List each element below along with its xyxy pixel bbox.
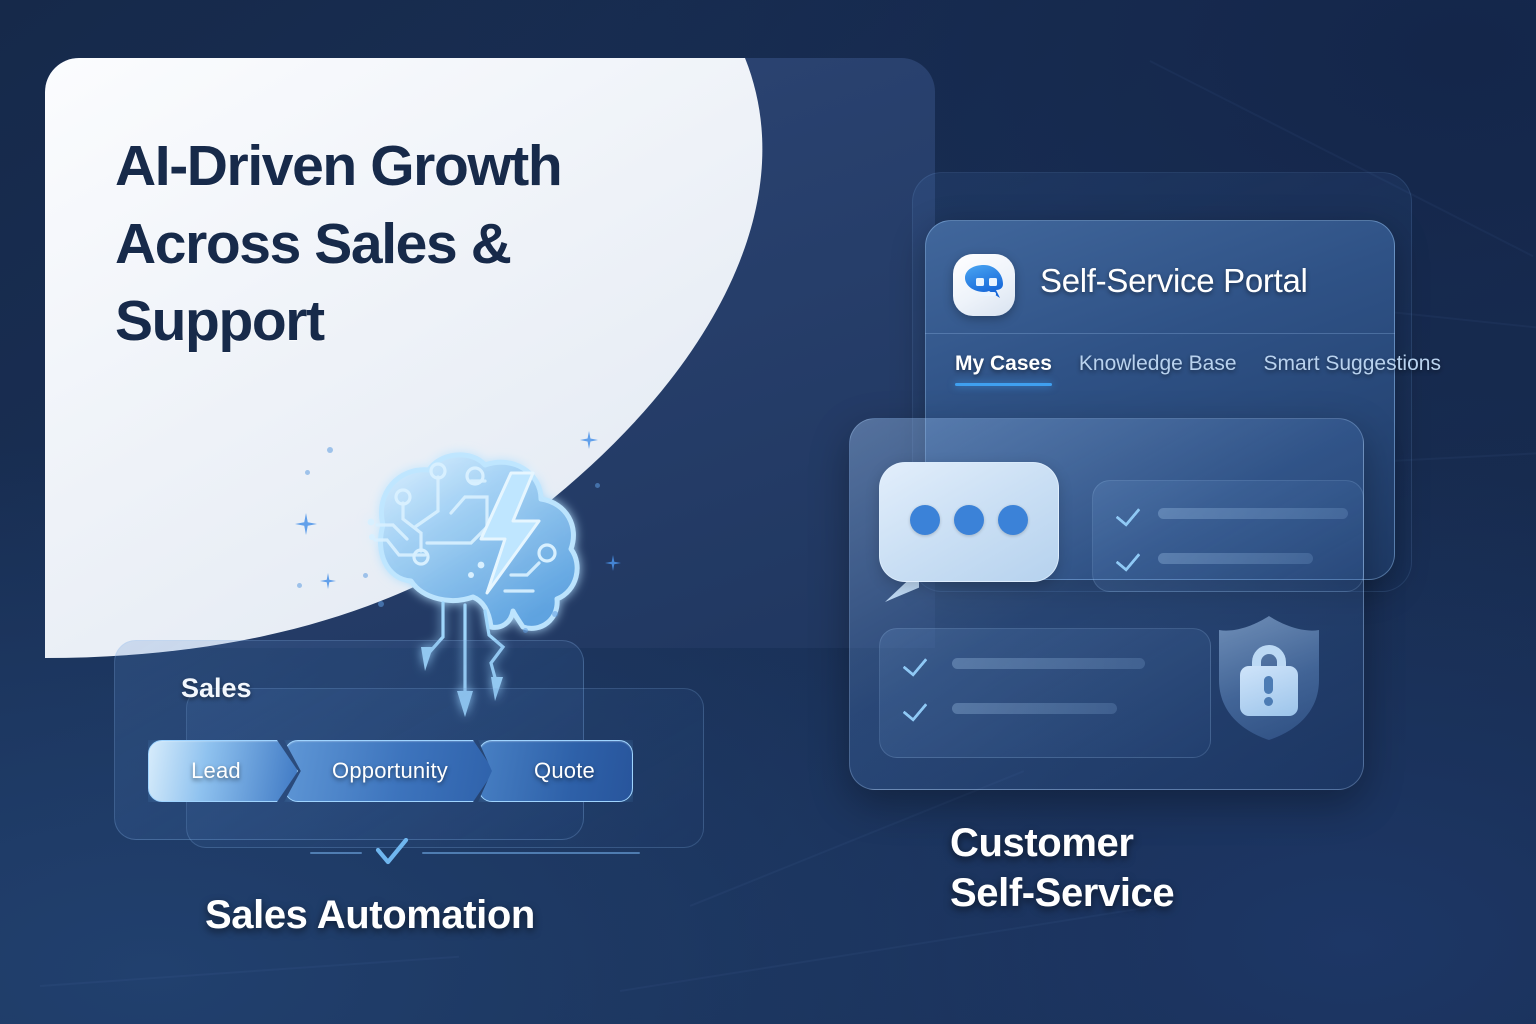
- pipeline-stage-lead[interactable]: Lead: [148, 740, 298, 802]
- self-service-caption-line-2: Self-Service: [950, 868, 1174, 918]
- pipeline-stage-opportunity[interactable]: Opportunity: [284, 740, 494, 802]
- check-icon: [1119, 545, 1145, 571]
- check-icon: [906, 650, 932, 676]
- particle-dot: [363, 573, 368, 578]
- checklist-card: [879, 628, 1211, 758]
- sales-pipeline: Lead Opportunity Quote: [148, 740, 633, 802]
- particle-dot: [595, 483, 600, 488]
- particle-dot: [297, 583, 302, 588]
- divider-line: [310, 852, 362, 854]
- bg-streak: [40, 956, 459, 987]
- typing-dot: [954, 505, 984, 535]
- particle-dot: [305, 470, 310, 475]
- typing-dot: [998, 505, 1028, 535]
- portal-tab-divider: [925, 333, 1395, 334]
- portal-tabs: My Cases Knowledge Base Smart Suggestion…: [955, 352, 1468, 386]
- check-icon: [1119, 500, 1145, 526]
- page-title-line-2: Across Sales &: [115, 206, 795, 284]
- particle-dot: [552, 611, 558, 617]
- tab-knowledge-base[interactable]: Knowledge Base: [1079, 352, 1237, 386]
- check-icon: [372, 838, 412, 870]
- placeholder-bar: [952, 703, 1117, 714]
- self-service-caption: Customer Self-Service: [950, 818, 1174, 918]
- tab-smart-suggestions[interactable]: Smart Suggestions: [1264, 352, 1441, 386]
- pipeline-complete-row: [310, 838, 640, 868]
- checklist-card: [1092, 480, 1364, 592]
- divider-line: [422, 852, 640, 854]
- pipeline-stage-quote[interactable]: Quote: [478, 740, 633, 802]
- chat-bot-avatar-icon: [953, 254, 1015, 316]
- sales-panel-label: Sales: [181, 673, 252, 704]
- page-title: AI-Driven Growth Across Sales & Support: [115, 128, 795, 361]
- poster-canvas: AI-Driven Growth Across Sales & Support: [0, 0, 1536, 1024]
- placeholder-bar: [1158, 553, 1313, 564]
- page-title-line-3: Support: [115, 283, 795, 361]
- typing-dot: [910, 505, 940, 535]
- tab-my-cases[interactable]: My Cases: [955, 352, 1052, 386]
- particle-dot: [378, 601, 384, 607]
- self-service-caption-line-1: Customer: [950, 818, 1174, 868]
- particle-dot: [523, 628, 528, 633]
- lock-keyhole-dot: [1264, 697, 1273, 706]
- portal-title: Self-Service Portal: [1040, 262, 1308, 300]
- sales-caption: Sales Automation: [205, 893, 535, 938]
- check-icon: [906, 695, 932, 721]
- placeholder-bar: [952, 658, 1145, 669]
- page-title-line-1: AI-Driven Growth: [115, 128, 795, 206]
- particle-dot: [327, 447, 333, 453]
- lock-keyhole: [1264, 676, 1273, 694]
- placeholder-bar: [1158, 508, 1348, 519]
